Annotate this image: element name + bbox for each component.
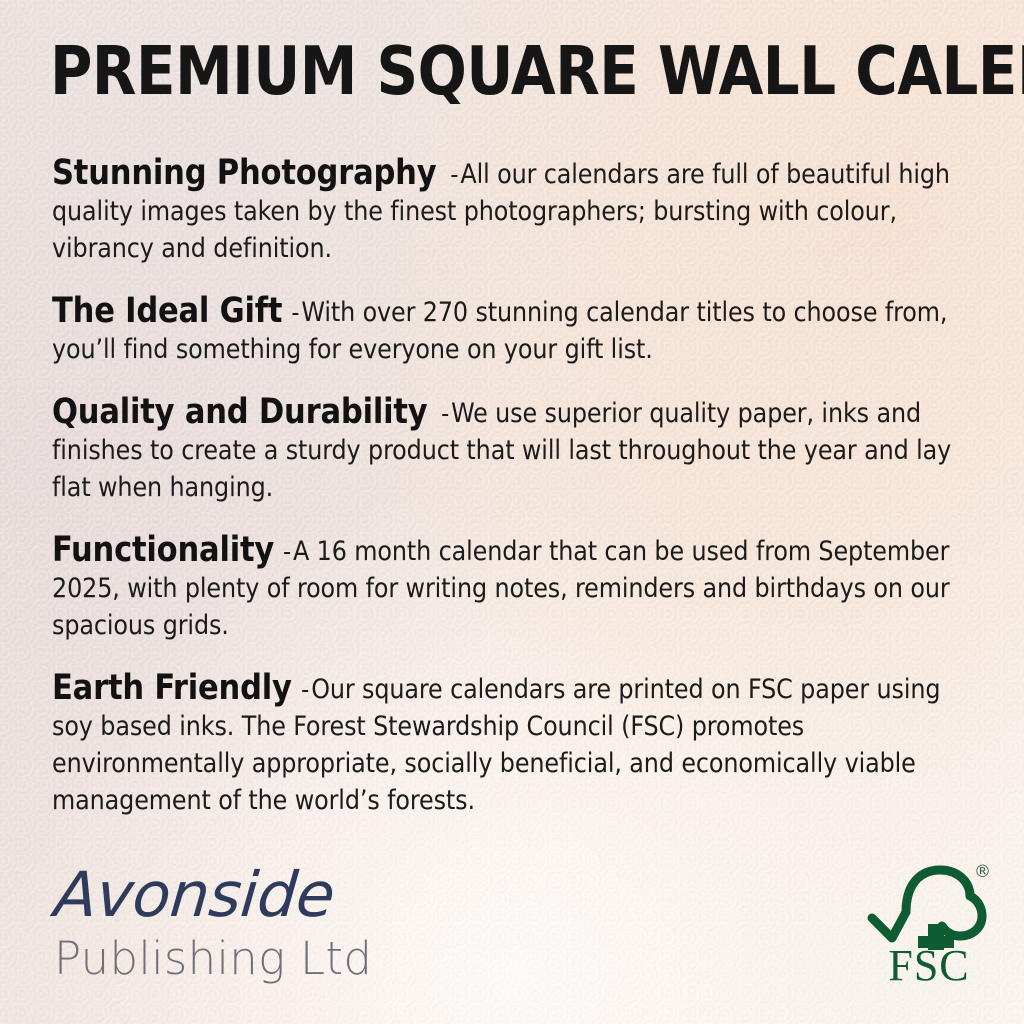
feature-section-stunning-photography: Stunning Photography-All our calendars a… [52,155,972,267]
feature-heading: Quality and Durability [52,394,428,431]
feature-dash: - [439,399,451,428]
brand-logo: Avonside Publishing Ltd [52,862,482,983]
feature-heading: Functionality [52,532,274,569]
brand-subtitle: Publishing Ltd [54,934,482,983]
fsc-label: FSC [866,943,992,989]
feature-dash: - [448,160,460,189]
feature-list: Stunning Photography-All our calendars a… [52,155,972,819]
feature-heading: Earth Friendly [52,670,292,707]
feature-section-earth-friendly: Earth Friendly-Our square calendars are … [52,670,972,819]
feature-section-the-ideal-gift: The Ideal Gift-With over 270 stunning ca… [52,293,972,368]
fsc-certification-logo: FSC ® [866,862,992,992]
feature-dash: - [289,298,301,327]
poster-canvas: PREMIUM SQUARE WALL CALENDARS Stunning P… [0,0,1024,1024]
feature-heading: Stunning Photography [52,155,436,192]
feature-dash: - [281,537,293,566]
feature-dash: - [299,675,311,704]
feature-section-functionality: Functionality-A 16 month calendar that c… [52,532,972,644]
brand-name: Avonside [52,862,488,928]
page-title: PREMIUM SQUARE WALL CALENDARS [50,34,943,108]
feature-section-quality-and-durability: Quality and Durability-We use superior q… [52,394,972,506]
registered-trademark-icon: ® [974,864,991,881]
feature-heading: The Ideal Gift [52,293,282,330]
